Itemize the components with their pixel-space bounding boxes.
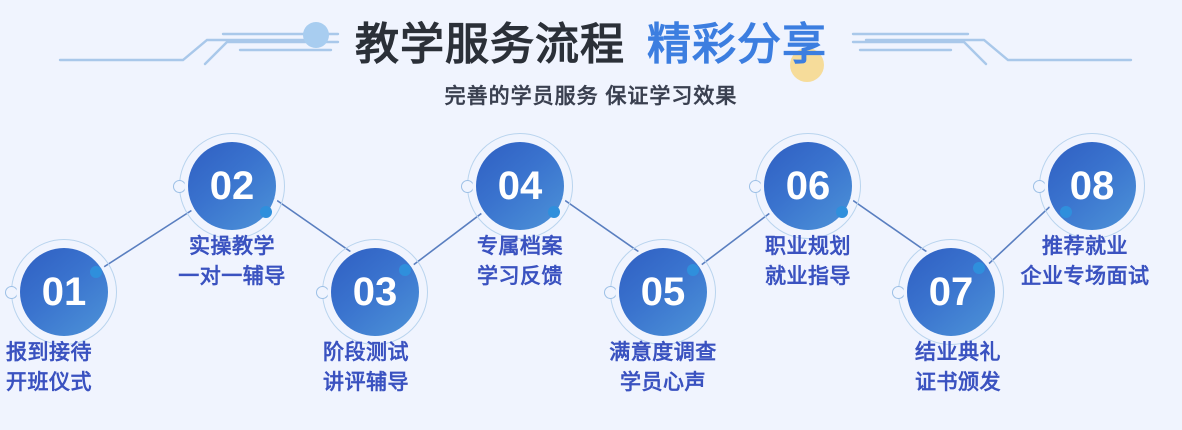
node-label: 报到接待 开班仪式: [6, 338, 92, 398]
title-accent-text: 精彩分享: [647, 20, 827, 69]
node-number: 02: [210, 166, 255, 206]
node-label-line1: 报到接待: [6, 341, 92, 364]
node-label-line1: 阶段测试: [323, 341, 409, 364]
node-label-line2: 就业指导: [753, 262, 863, 292]
node-label: 专属档案 学习反馈: [465, 232, 575, 292]
node-number: 04: [498, 166, 543, 206]
node-label-line2: 一对一辅导: [173, 262, 291, 292]
node-label-line2: 学员心声: [597, 368, 729, 398]
node-label-line1: 推荐就业: [1042, 235, 1128, 258]
decorative-blue-dot: [303, 22, 329, 48]
node-disc: 03: [331, 248, 419, 336]
connector-dot: [548, 206, 560, 218]
node-label-line1: 结业典礼: [915, 341, 1001, 364]
connector-dot: [687, 264, 699, 276]
connector-dot: [90, 266, 102, 278]
node-ring-notch-icon: [604, 286, 617, 299]
connector-dot: [836, 206, 848, 218]
node-label: 阶段测试 讲评辅导: [323, 338, 409, 398]
node-number: 03: [353, 272, 398, 312]
connector-dot: [1060, 206, 1072, 218]
node-ring-notch-icon: [892, 286, 905, 299]
node-label: 满意度调查 学员心声: [597, 338, 729, 398]
node-ring-notch-icon: [1033, 180, 1046, 193]
node-label-line2: 讲评辅导: [323, 368, 409, 398]
node-label: 实操教学 一对一辅导: [173, 232, 291, 292]
node-number: 07: [929, 272, 974, 312]
node-number: 08: [1070, 166, 1115, 206]
node-ring-notch-icon: [749, 180, 762, 193]
connector-dot: [973, 262, 985, 274]
node-ring-notch-icon: [461, 180, 474, 193]
node-number: 01: [42, 272, 87, 312]
node-disc: 05: [619, 248, 707, 336]
node-ring-notch-icon: [5, 286, 18, 299]
node-label: 结业典礼 证书颁发: [915, 338, 1001, 398]
node-label-line1: 满意度调查: [609, 341, 717, 364]
title-main-text: 教学服务流程: [355, 20, 625, 69]
node-disc: 07: [907, 248, 995, 336]
node-label: 职业规划 就业指导: [753, 232, 863, 292]
node-label-line2: 学习反馈: [465, 262, 575, 292]
node-label-line1: 职业规划: [765, 235, 851, 258]
node-label-line2: 企业专场面试: [995, 262, 1175, 292]
node-ring-notch-icon: [173, 180, 186, 193]
node-label: 推荐就业 企业专场面试: [995, 232, 1175, 292]
node-ring-notch-icon: [316, 286, 329, 299]
node-label-line1: 实操教学: [189, 235, 275, 258]
node-number: 05: [641, 272, 686, 312]
node-disc: 08: [1048, 142, 1136, 230]
node-label-line2: 证书颁发: [915, 368, 1001, 398]
node-label-line2: 开班仪式: [6, 368, 92, 398]
node-number: 06: [786, 166, 831, 206]
flow-infographic: 教学服务流程精彩分享 完善的学员服务 保证学习效果 01: [0, 0, 1182, 430]
connector-dot: [399, 264, 411, 276]
node-disc: 01: [20, 248, 108, 336]
connector-dot: [260, 206, 272, 218]
node-label-line1: 专属档案: [477, 235, 563, 258]
